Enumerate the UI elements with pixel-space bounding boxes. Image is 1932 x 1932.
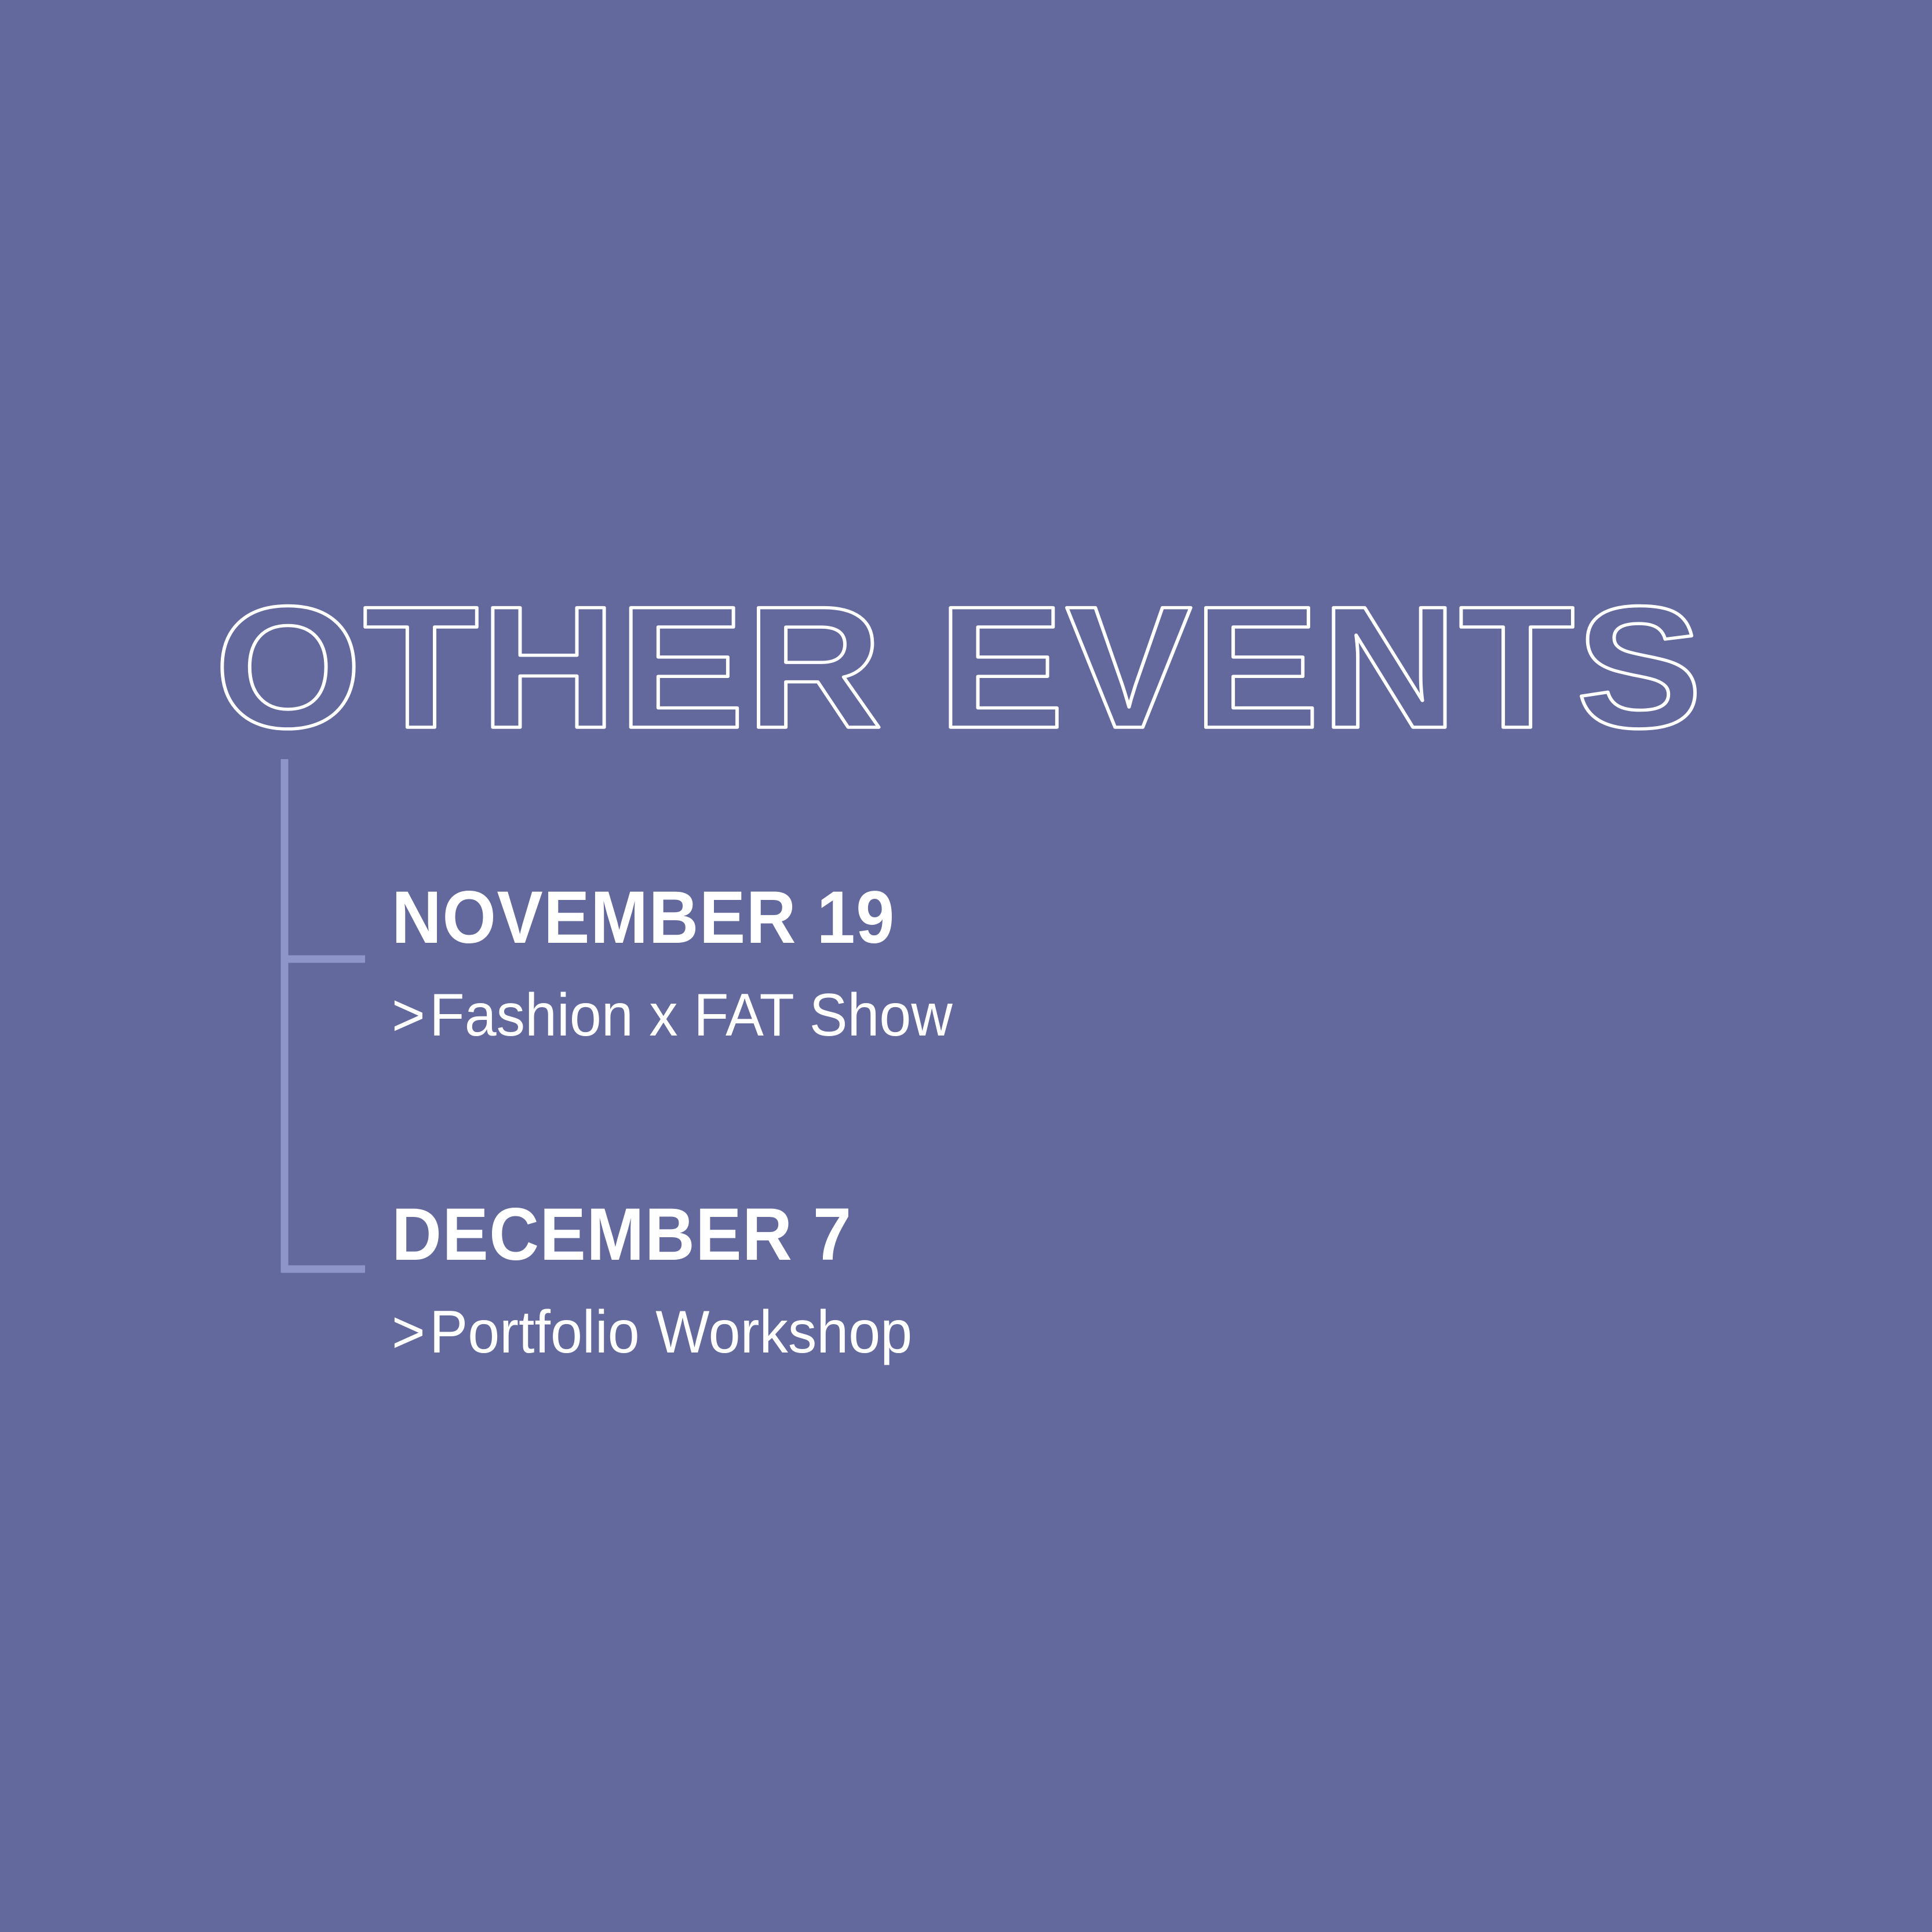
other-events-poster: OTHER EVENTS NOVEMBER 19 > Fashion x FAT… [0, 0, 1932, 1932]
event-name-row: > Portfolio Workshop [392, 1302, 1548, 1362]
timeline-bracket [272, 759, 382, 1286]
event-list: NOVEMBER 19 > Fashion x FAT Show DECEMBE… [392, 881, 1609, 1362]
page-title-outline-svg: OTHER EVENTS [214, 542, 1721, 762]
timeline-bracket-icon [272, 759, 382, 1286]
event-date: DECEMBER 7 [392, 1198, 1523, 1272]
page-title: OTHER EVENTS [214, 542, 1721, 762]
event-name-row: > Fashion x FAT Show [392, 985, 1548, 1045]
list-item: NOVEMBER 19 > Fashion x FAT Show [392, 881, 1609, 1045]
chevron-right-icon: > [392, 1302, 425, 1362]
event-name: Portfolio Workshop [429, 1302, 912, 1362]
page-title-text: OTHER EVENTS [214, 570, 1704, 764]
chevron-right-icon: > [392, 985, 425, 1045]
event-name: Fashion x FAT Show [429, 985, 952, 1045]
event-date: NOVEMBER 19 [392, 881, 1523, 955]
list-item: DECEMBER 7 > Portfolio Workshop [392, 1198, 1609, 1362]
